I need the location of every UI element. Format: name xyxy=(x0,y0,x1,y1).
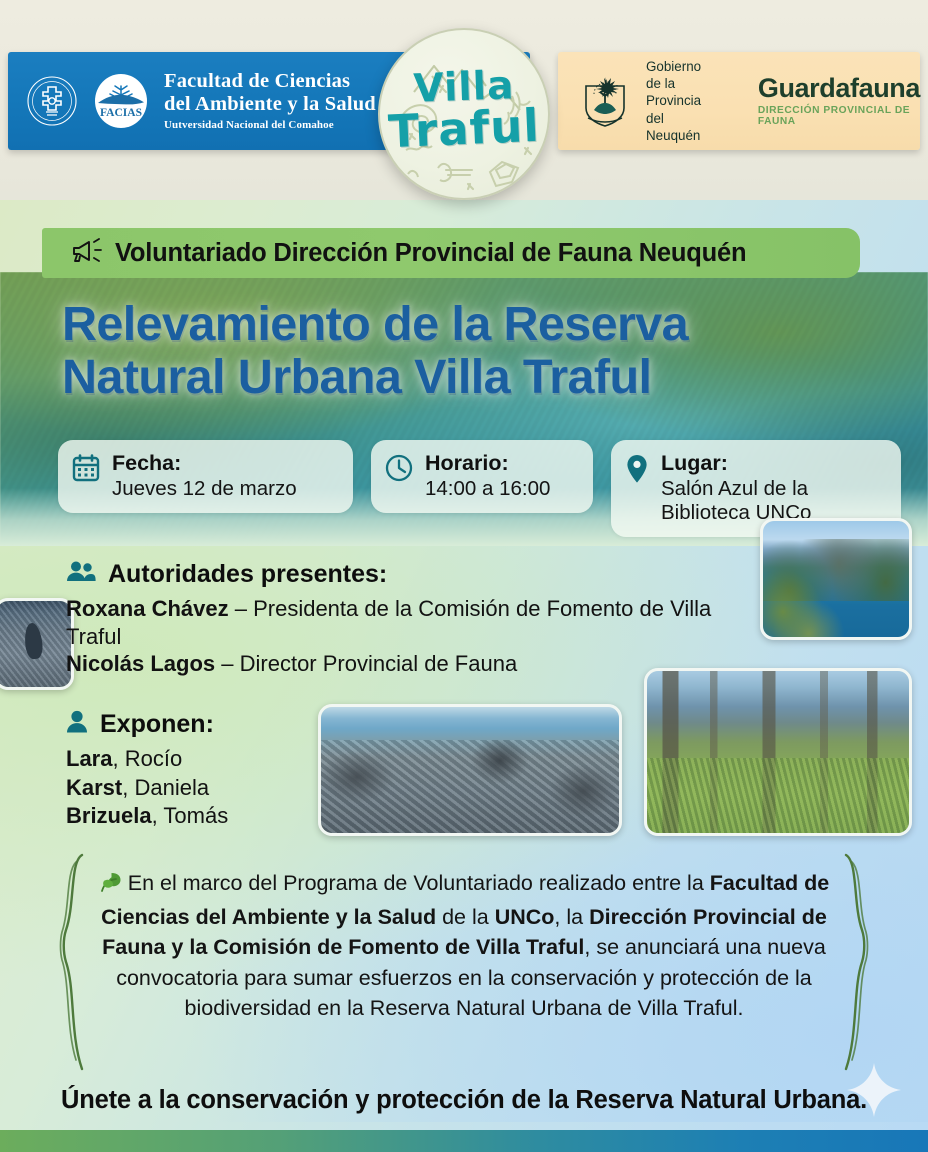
authority-name-1: Roxana Chávez xyxy=(66,596,229,621)
speakers-section: Exponen: Lara, Rocío Karst, Daniela Briz… xyxy=(66,710,326,831)
speaker-last-2: Karst xyxy=(66,775,122,800)
chip-horario: Horario: 14:00 a 16:00 xyxy=(371,440,593,513)
authorities-heading: Autoridades presentes: xyxy=(108,560,387,589)
guardafauna-block: Guardafauna DIRECCIÓN PROVINCIAL DE FAUN… xyxy=(758,75,920,127)
authorities-heading-row: Autoridades presentes: xyxy=(66,560,766,589)
speaker-first-3: , Tomás xyxy=(152,803,229,828)
photo-forest-lake-image xyxy=(647,671,909,833)
speaker-entry-3: Brizuela, Tomás xyxy=(66,802,326,831)
villa-traful-wordmark: Villa Traful xyxy=(380,70,548,150)
people-icon xyxy=(66,560,96,589)
leaf-icon xyxy=(99,871,123,902)
tagline: Únete a la conservación y protección de … xyxy=(0,1086,928,1115)
chip-horario-label: Horario: xyxy=(425,451,550,475)
chip-fecha-label: Fecha: xyxy=(112,451,297,475)
chip-fecha-text: Fecha: Jueves 12 de marzo xyxy=(112,451,297,501)
poster-root: FACIAS Facultad de Ciencias del Ambiente… xyxy=(0,0,928,1152)
chip-lugar-label: Lugar: xyxy=(661,451,885,475)
programme-note-text: En el marco del Programa de Voluntariado… xyxy=(92,868,836,1024)
authorities-list: Roxana Chávez – Presidenta de la Comisió… xyxy=(66,595,766,678)
authority-entry-1: Roxana Chávez – Presidenta de la Comisió… xyxy=(66,595,766,650)
programme-note-box: En el marco del Programa de Voluntariado… xyxy=(58,852,870,1072)
note-part1: En el marco del Programa de Voluntariado… xyxy=(128,871,710,895)
photo-rocky-shore xyxy=(318,704,622,836)
speaker-entry-2: Karst, Daniela xyxy=(66,774,326,803)
speakers-list: Lara, Rocío Karst, Daniela Brizuela, Tom… xyxy=(66,745,326,831)
logo-word-traful: Traful xyxy=(379,104,549,154)
chip-fecha: Fecha: Jueves 12 de marzo xyxy=(58,440,353,513)
note-part3: , la xyxy=(554,905,589,929)
person-icon xyxy=(66,710,88,739)
speakers-heading: Exponen: xyxy=(100,710,214,739)
authority-role-2: – Director Provincial de Fauna xyxy=(215,651,517,676)
government-title-block: Gobierno de la Provincia del Neuquén xyxy=(646,58,716,144)
authority-name-2: Nicolás Lagos xyxy=(66,651,215,676)
speaker-entry-1: Lara, Rocío xyxy=(66,745,326,774)
note-part2: de la xyxy=(436,905,495,929)
bottom-color-strip xyxy=(0,1130,928,1152)
bracket-left-icon xyxy=(58,852,84,1072)
guardafauna-subtitle: DIRECCIÓN PROVINCIAL DE FAUNA xyxy=(758,105,920,127)
photo-bird-shore xyxy=(0,598,74,690)
photo-lake-mountain xyxy=(760,518,912,640)
faculty-line2: del Ambiente y la Salud xyxy=(164,93,376,116)
government-line2: de la Provincia xyxy=(646,75,716,109)
faculty-subtitle: Uutversidad Nacional del Comahoe xyxy=(164,119,376,131)
chip-fecha-value: Jueves 12 de marzo xyxy=(112,477,297,501)
chip-horario-text: Horario: 14:00 a 16:00 xyxy=(425,451,550,501)
guardafauna-title: Guardafauna xyxy=(758,75,920,102)
speaker-first-2: , Daniela xyxy=(122,775,209,800)
government-line1: Gobierno xyxy=(646,58,716,75)
villa-traful-logo: Villa Traful xyxy=(378,28,550,200)
neuquen-shield-icon xyxy=(580,74,630,128)
megaphone-icon xyxy=(70,238,104,269)
title-line-1: Relevamiento de la Reserva xyxy=(62,298,874,351)
map-pin-icon xyxy=(625,454,649,489)
speaker-first-1: , Rocío xyxy=(112,746,182,771)
volunteer-banner: Voluntariado Dirección Provincial de Fau… xyxy=(42,228,860,278)
title-line-2: Natural Urbana Villa Traful xyxy=(62,351,874,404)
speakers-heading-row: Exponen: xyxy=(66,710,326,739)
photo-lake-mountain-image xyxy=(763,521,909,637)
poster-title: Relevamiento de la Reserva Natural Urban… xyxy=(62,298,874,405)
faculty-title-block: Facultad de Ciencias del Ambiente y la S… xyxy=(164,70,376,131)
speaker-last-3: Brizuela xyxy=(66,803,152,828)
chip-horario-value: 14:00 a 16:00 xyxy=(425,477,550,501)
photo-forest-lake xyxy=(644,668,912,836)
facias-logo-icon: FACIAS xyxy=(92,72,150,130)
authorities-section: Autoridades presentes: Roxana Chávez – P… xyxy=(66,560,766,678)
facias-label: FACIAS xyxy=(100,107,142,119)
speaker-last-1: Lara xyxy=(66,746,112,771)
photo-rocky-shore-image xyxy=(321,707,619,833)
unco-seal-icon xyxy=(26,75,78,127)
government-line3: del Neuquén xyxy=(646,110,716,144)
faculty-line1: Facultad de Ciencias xyxy=(164,70,376,93)
note-bold2: UNCo xyxy=(495,905,555,929)
photo-bird-shore-image xyxy=(0,601,71,687)
calendar-icon xyxy=(72,454,100,487)
chip-lugar-text: Lugar: Salón Azul de la Biblioteca UNCo xyxy=(661,451,885,525)
volunteer-banner-label: Voluntariado Dirección Provincial de Fau… xyxy=(115,239,746,268)
clock-icon xyxy=(385,454,413,487)
authority-entry-2: Nicolás Lagos – Director Provincial de F… xyxy=(66,650,766,678)
bracket-right-icon xyxy=(844,852,870,1072)
header-government-bar: Gobierno de la Provincia del Neuquén Gua… xyxy=(558,52,920,150)
